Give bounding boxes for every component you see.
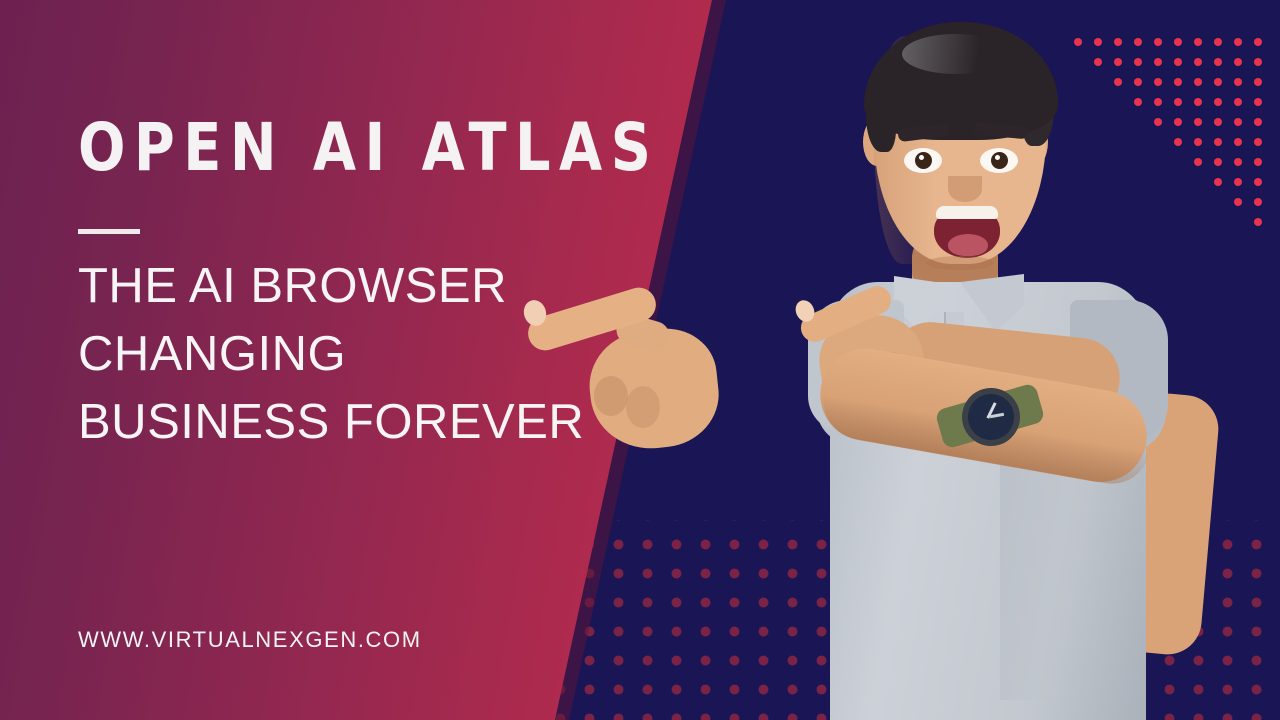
eye-glint-right	[995, 155, 1000, 160]
hair-highlight	[902, 34, 1010, 74]
page-title: OPEN AI ATLAS	[78, 112, 659, 184]
pupil-left	[915, 152, 932, 169]
subheadline-line-1: THE AI BROWSER	[78, 252, 584, 320]
eye-glint-left	[919, 155, 924, 160]
nose	[948, 176, 982, 202]
text-content-column: OPEN AI ATLAS THE AI BROWSER CHANGING BU…	[78, 0, 778, 720]
tongue	[948, 234, 988, 256]
pupil-right	[991, 152, 1008, 169]
subheadline-line-2: CHANGING	[78, 320, 584, 388]
subheadline-line-3: BUSINESS FOREVER	[78, 388, 584, 456]
teeth	[936, 206, 998, 219]
divider-rule	[78, 229, 140, 234]
chin-shadow	[926, 256, 994, 270]
promotional-banner: OPEN AI ATLAS THE AI BROWSER CHANGING BU…	[0, 0, 1280, 720]
subheadline: THE AI BROWSER CHANGING BUSINESS FOREVER	[78, 252, 584, 456]
website-url: WWW.VIRTUALNEXGEN.COM	[78, 627, 422, 653]
